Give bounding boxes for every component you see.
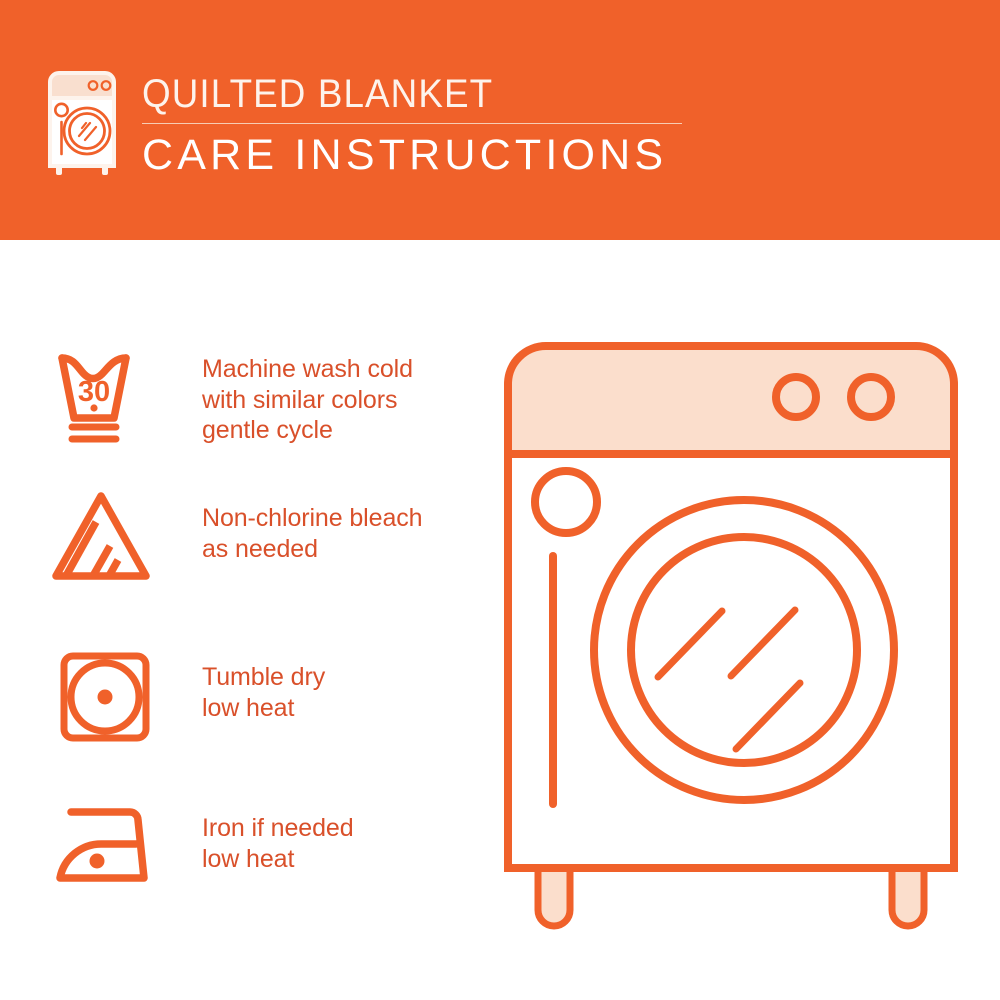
care-item-iron: Iron if needed low heat [0, 788, 500, 918]
care-text-line: with similar colors [202, 385, 492, 416]
title-divider [142, 123, 682, 124]
care-text-line: Iron if needed [202, 813, 492, 844]
leg-right [892, 864, 924, 926]
washing-machine-illustration [496, 334, 966, 934]
page-title-secondary: CARE INSTRUCTIONS [142, 131, 702, 179]
care-item-wash-text: Machine wash cold with similar colors ge… [202, 354, 492, 446]
leg-left [538, 864, 570, 926]
care-item-tumble-dry-text: Tumble dry low heat [202, 662, 492, 723]
care-instructions-page: QUILTED BLANKET CARE INSTRUCTIONS 30 Mac… [0, 0, 1000, 1000]
machine-body [508, 454, 954, 868]
care-item-bleach: Non-chlorine bleach as needed [0, 480, 500, 610]
care-text-line: low heat [202, 844, 492, 875]
page-header: QUILTED BLANKET CARE INSTRUCTIONS [0, 0, 1000, 240]
iron-low-heat-icon [50, 802, 158, 912]
care-text-line: low heat [202, 693, 492, 724]
care-instructions-list: 30 Machine wash cold with similar colors… [0, 240, 500, 1000]
wash-temperature-label: 30 [78, 376, 110, 408]
care-text-line: Tumble dry [202, 662, 492, 693]
washing-machine-icon [46, 68, 120, 178]
non-chlorine-bleach-triangle-icon [48, 484, 156, 594]
care-text-line: as needed [202, 534, 492, 565]
care-text-line: Machine wash cold [202, 354, 492, 385]
care-text-line: Non-chlorine bleach [202, 503, 492, 534]
care-item-tumble-dry: Tumble dry low heat [0, 638, 500, 768]
care-item-wash: 30 Machine wash cold with similar colors… [0, 340, 500, 470]
care-text-line: gentle cycle [202, 415, 492, 446]
care-item-bleach-text: Non-chlorine bleach as needed [202, 503, 492, 564]
tumble-dry-low-heat-icon [54, 646, 162, 756]
care-item-iron-text: Iron if needed low heat [202, 813, 492, 874]
page-title-primary: QUILTED BLANKET [142, 72, 657, 116]
header-title-group: QUILTED BLANKET CARE INSTRUCTIONS [142, 72, 702, 179]
wash-tub-30-icon: 30 [52, 344, 160, 454]
